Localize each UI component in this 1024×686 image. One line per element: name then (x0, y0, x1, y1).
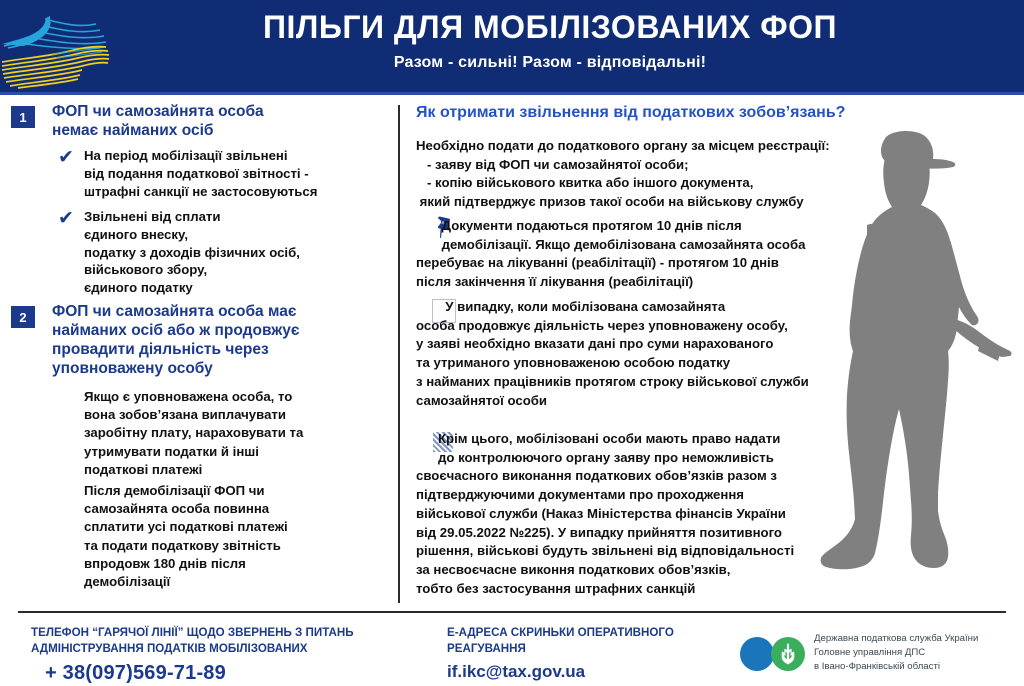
text-line: - копію військового квитка або іншого до… (416, 174, 936, 193)
bullet-line: На період мобілізації звільнені (84, 147, 388, 165)
bullet-item-1-1: ✔ На період мобілізації звільнені від по… (58, 147, 388, 200)
check-icon: ✔ (58, 148, 80, 167)
text-line: Якщо є уповноважена особа, то (84, 388, 394, 406)
header-text-block: ПІЛЬГИ ДЛЯ МОБІЛІЗОВАНИХ ФОП Разом - сил… (170, 10, 930, 72)
ukraine-flag-brushstroke-icon (0, 0, 112, 94)
bullet-line: штрафні санкції не застосовуються (84, 183, 388, 201)
text-line: та утриманого уповноваженою особою подат… (416, 354, 936, 373)
text-line: Документи подаються протягом 10 днів піс… (416, 217, 936, 236)
text-line: особа продовжує діяльність через уповнов… (416, 317, 936, 336)
text-line: самозайнятої особи (416, 392, 936, 411)
hotline-label: ТЕЛЕФОН “ГАРЯЧОЇ ЛІНІЇ” ЩОДО ЗВЕРНЕНЬ З … (31, 625, 451, 656)
right-column-heading: Як отримати звільнення від податкових зо… (416, 103, 946, 122)
text-line: військової служби (Наказ Міністерства фі… (416, 505, 936, 524)
bullet-line: єдиного податку (84, 279, 388, 297)
page-title: ПІЛЬГИ ДЛЯ МОБІЛІЗОВАНИХ ФОП (170, 10, 930, 45)
bullet-line: єдиного внеску, (84, 226, 388, 244)
logo-circles (740, 634, 806, 679)
email-address[interactable]: if.ikc@tax.gov.ua (447, 662, 585, 682)
section-heading-2: ФОП чи самозайнята особа має найманих ос… (52, 303, 382, 379)
text-line: впродовж 180 днів після (84, 555, 394, 573)
right-paragraph-4: Крім цього, мобілізовані особи мають пра… (416, 430, 936, 599)
section-heading-1: ФОП чи самозайнята особа немає найманих … (52, 103, 382, 141)
text-item-2-2: Після демобілізації ФОП чи самозайнята о… (84, 482, 394, 591)
check-icon: ✔ (58, 209, 80, 228)
right-column: Як отримати звільнення від податкових зо… (408, 97, 1024, 611)
text-line: Крім цього, мобілізовані особи мають пра… (416, 430, 936, 449)
bullet-item-1-2: ✔ Звільнені від сплати єдиного внеску, п… (58, 208, 388, 297)
bullet-line: військового збору, (84, 261, 388, 279)
right-paragraph-3: У випадку, коли мобілізована самозайнята… (416, 298, 936, 410)
footer-top-rule (18, 611, 1006, 613)
text-line: підтверджуючими документами про проходже… (416, 486, 936, 505)
text-line: з найманих працівників протягом строку в… (416, 373, 936, 392)
header-bottom-rule (0, 92, 1024, 95)
text-line: вона зобов’язана виплачувати (84, 406, 394, 424)
bullet-line: від подання податкової звітності - (84, 165, 388, 183)
text-line: податкові платежі (84, 461, 394, 479)
right-paragraph-2: Документи подаються протягом 10 днів піс… (416, 217, 936, 292)
text-line: від 29.05.2022 №225). У випадку прийнятт… (416, 524, 936, 543)
text-line: самозайнята особа повинна (84, 500, 394, 518)
email-label: Е-АДРЕСА СКРИНЬКИ ОПЕРАТИВНОГО РЕАГУВАНН… (447, 625, 727, 656)
text-line: тобто без застосування штрафних санкцій (416, 580, 936, 599)
infographic-page: ПІЛЬГИ ДЛЯ МОБІЛІЗОВАНИХ ФОП Разом - сил… (0, 0, 1024, 686)
text-line: після закінчення її лікування (реабіліта… (416, 273, 936, 292)
text-line: який підтверджує призов такої особи на в… (416, 193, 936, 212)
hotline-phone-number[interactable]: + 38(097)569-71-89 (45, 662, 226, 685)
dps-logo: Державна податкова служба України Головн… (740, 630, 1020, 680)
text-line: сплатити усі податкові платежі (84, 518, 394, 536)
text-line: утримувати податки й інші (84, 443, 394, 461)
text-line: до контролюючого органу заяву про неможл… (416, 449, 936, 468)
logo-text: Державна податкова служба України Головн… (814, 632, 1024, 674)
text-line: - заяву від ФОП чи самозайнятої особи; (416, 156, 936, 175)
text-line: У випадку, коли мобілізована самозайнята (416, 298, 936, 317)
text-line: у заяві необхідно вказати дані про суми … (416, 335, 936, 354)
section-number-badge-1: 1 (11, 106, 35, 128)
text-line: Необхідно подати до податкового органу з… (416, 137, 936, 156)
text-line: рішення, військові будуть звільнені від … (416, 542, 936, 561)
text-line: демобілізації (84, 573, 394, 591)
text-line: та подати податкову звітність (84, 537, 394, 555)
text-line: перебуває на лікуванні (реабілітації) - … (416, 254, 936, 273)
header-banner: ПІЛЬГИ ДЛЯ МОБІЛІЗОВАНИХ ФОП Разом - сил… (0, 0, 1024, 94)
right-paragraph-1: Необхідно подати до податкового органу з… (416, 137, 936, 212)
section-number-badge-2: 2 (11, 306, 35, 328)
bullet-line: Звільнені від сплати (84, 208, 388, 226)
text-item-2-1: Якщо є уповноважена особа, то вона зобов… (84, 388, 394, 479)
blue-circle (740, 637, 774, 671)
text-line: Після демобілізації ФОП чи (84, 482, 394, 500)
column-divider (398, 105, 400, 603)
text-line: заробітну плату, нараховувати та (84, 424, 394, 442)
left-column: 1 ФОП чи самозайнята особа немає наймани… (0, 97, 390, 611)
main-content: 1 ФОП чи самозайнята особа немає наймани… (0, 97, 1024, 611)
text-line: своєчасного виконання податкових обов’яз… (416, 467, 936, 486)
text-line: за несвоєчасне виконня податкових обов’я… (416, 561, 936, 580)
page-subtitle: Разом - сильні! Разом - відповідальні! (170, 54, 930, 72)
text-line: демобілізації. Якщо демобілізована самоз… (416, 236, 936, 255)
bullet-line: податку з доходів фізичних осіб, (84, 244, 388, 262)
